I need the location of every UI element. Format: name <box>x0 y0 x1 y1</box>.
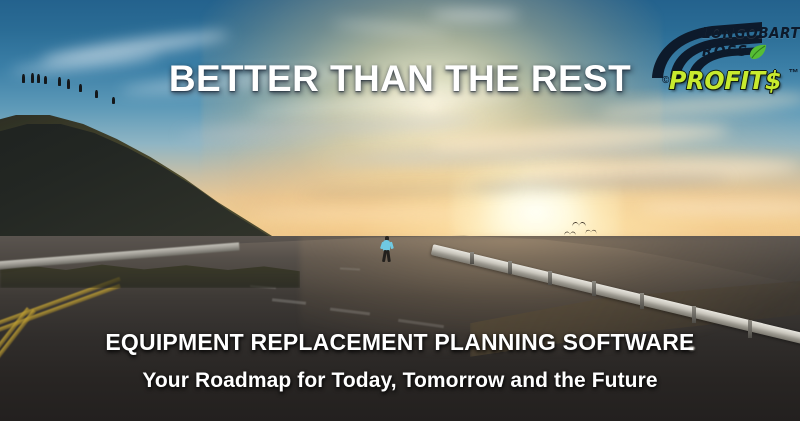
guardrail-post <box>592 281 596 296</box>
runner-leg-right <box>386 250 391 262</box>
logo-product-name: PROFIT$ <box>669 66 781 95</box>
product-tagline: EQUIPMENT REPLACEMENT PLANNING SOFTWARE <box>0 329 800 356</box>
logo-brand-line1: LONGOBART <box>702 26 786 42</box>
logo-brand-line2-row: ROSS <box>702 44 798 60</box>
guardrail-post <box>470 252 474 264</box>
leaf-icon <box>749 44 767 60</box>
guardrail-post <box>508 261 512 274</box>
bird-icon <box>585 230 596 236</box>
cloud <box>250 208 490 220</box>
product-subtagline: Your Roadmap for Today, Tomorrow and the… <box>0 369 800 393</box>
cloud <box>430 10 520 20</box>
guardrail-post <box>640 293 644 309</box>
brand-logo[interactable]: LONGOBART ROSS © PROFIT$ ™ <box>650 18 798 100</box>
logo-wordmark: LONGOBART ROSS <box>702 26 798 60</box>
logo-brand-line2: ROSS <box>702 44 749 60</box>
trademark-symbol: ™ <box>789 68 799 79</box>
bird-icon <box>572 222 586 229</box>
guardrail-post <box>692 306 696 323</box>
marketing-banner: BETTER THAN THE REST EQUIPMENT REPLACEME… <box>0 0 800 421</box>
guardrail-post <box>548 271 552 285</box>
logo-product-row: © PROFIT$ ™ <box>662 66 799 95</box>
runner-figure <box>381 236 393 264</box>
